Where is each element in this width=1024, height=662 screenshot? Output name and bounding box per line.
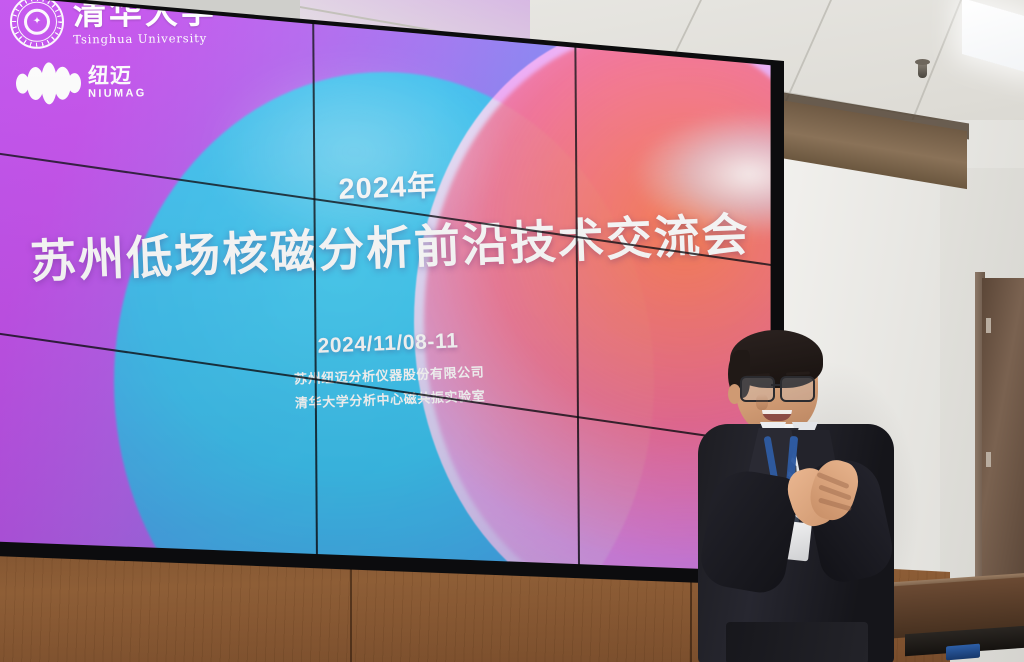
video-wall-screen[interactable]: ✦ 清华大学 Tsinghua University 纽迈 bbox=[0, 0, 784, 592]
door-hinge-icon bbox=[986, 318, 991, 333]
fire-sprinkler-icon bbox=[918, 62, 927, 78]
presentation-photo: ✦ 清华大学 Tsinghua University 纽迈 bbox=[0, 0, 1024, 662]
trousers bbox=[726, 622, 868, 662]
video-wall[interactable]: ✦ 清华大学 Tsinghua University 纽迈 bbox=[0, 0, 784, 592]
eyeglasses-icon bbox=[738, 376, 818, 400]
nose bbox=[756, 394, 768, 410]
presenter bbox=[690, 332, 910, 662]
blue-object-on-desk bbox=[946, 644, 980, 661]
door-hinge-icon bbox=[986, 452, 991, 467]
screen-sheen bbox=[0, 0, 784, 592]
